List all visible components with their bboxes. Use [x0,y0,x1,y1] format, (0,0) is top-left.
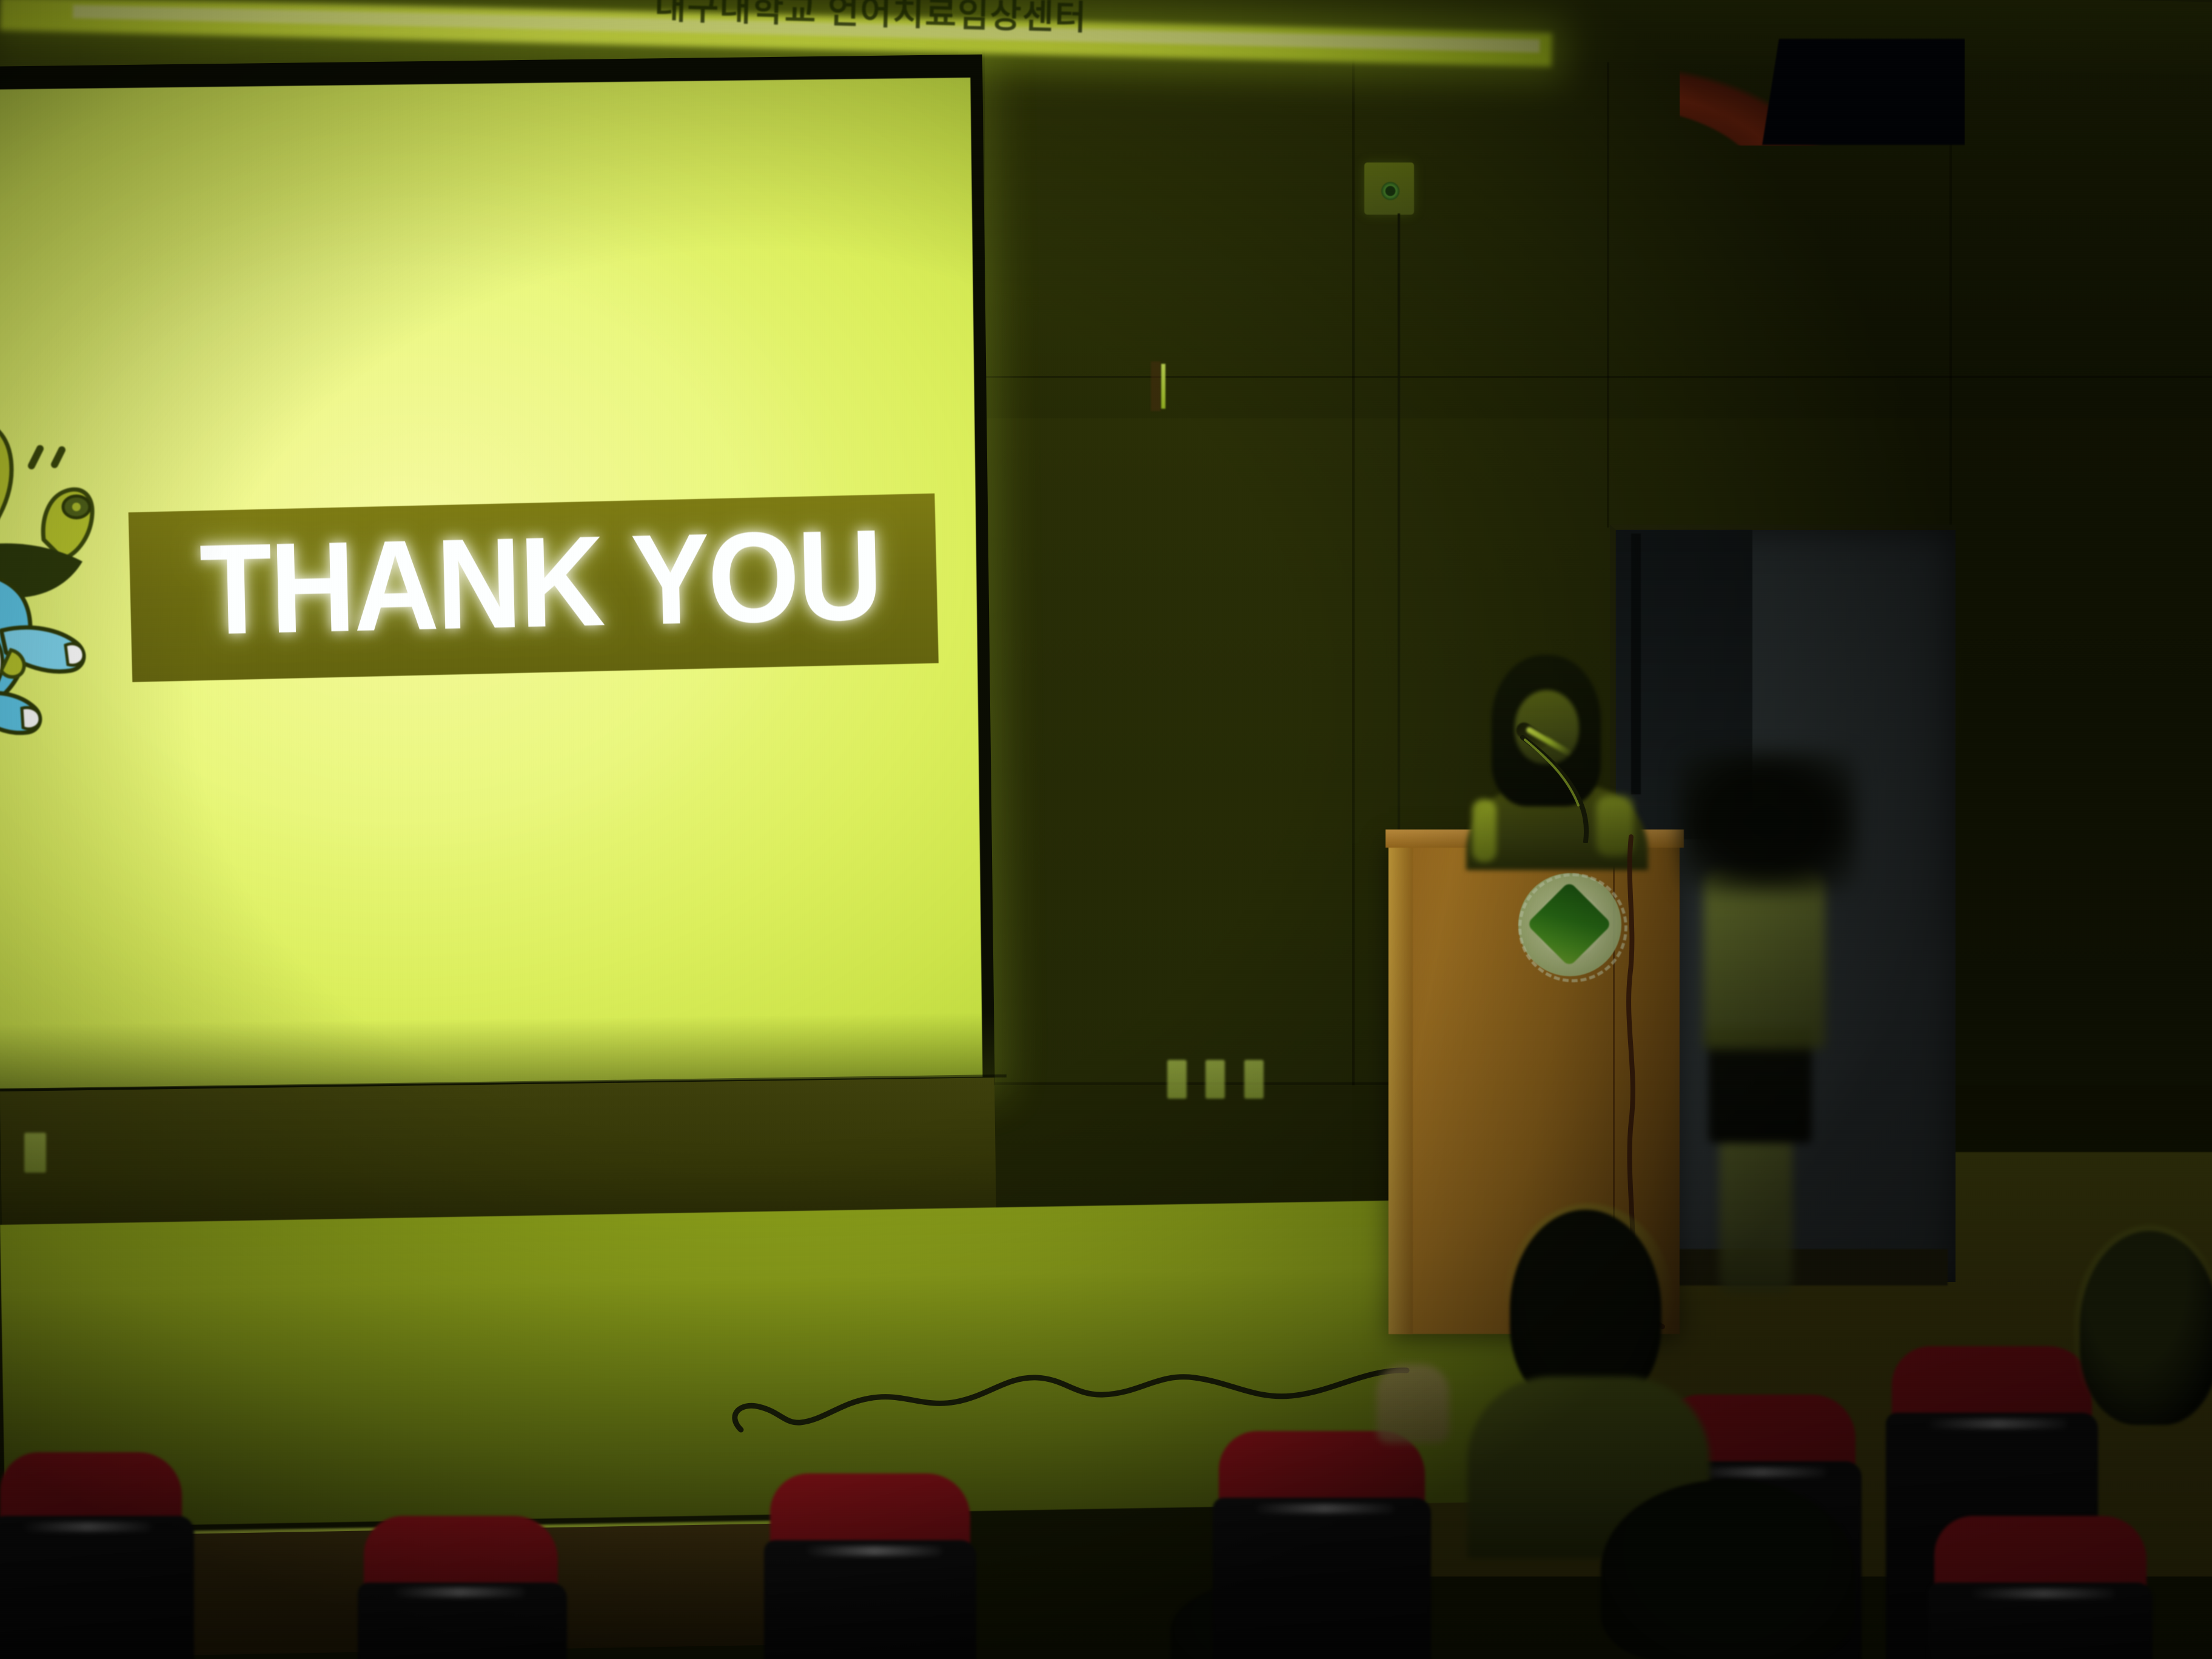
wall-outlet [1167,1060,1187,1099]
auditorium-photo: 대구대학교 언어치료임상센터 [0,0,2212,1659]
slide-mascot-character [0,388,139,764]
wall-wainscot [0,1078,996,1231]
dark-panel-shape [1762,39,1965,145]
presenter-highlight-left [1472,799,1496,862]
audience-member-right [1601,1480,1855,1659]
walking-person-legs [1720,1128,1792,1292]
wall-decoration-swoosh [1680,30,1965,146]
audience-raised-hand [1376,1364,1449,1443]
audience-head-rimlight [2074,1225,2212,1431]
wall-outlet [1244,1060,1264,1099]
gooseneck-microphone [1519,734,1616,843]
wall-light-sliver [1161,364,1165,409]
crest-ring-icon [1518,873,1627,982]
wall-fixture-shadow [1151,361,1161,411]
blue-mascot-icon [0,388,139,764]
slide-headline: THANK YOU [198,509,860,664]
walking-person-hair [1680,752,1855,891]
wall-outlet [1205,1060,1225,1099]
wall-outlet [24,1133,46,1173]
wall-seam [1352,0,1355,1085]
podium-left-face [1389,837,1413,1334]
walking-person-top [1704,867,1825,1049]
wall-seam [1607,0,1609,528]
speaker-lens-icon [1381,182,1399,200]
walking-person [1661,752,1855,1298]
